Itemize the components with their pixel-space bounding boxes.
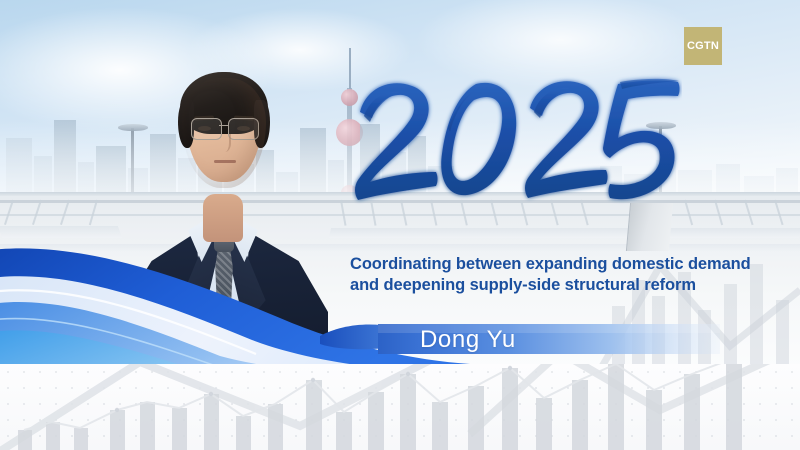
guest-name-label: Dong Yu xyxy=(420,326,516,354)
broadcast-graphic-canvas: Coordinating between expanding domestic … xyxy=(0,0,800,450)
year-title-2025 xyxy=(352,68,682,218)
cgtn-logo[interactable]: CGTN xyxy=(684,27,722,65)
tower-spire xyxy=(349,48,351,90)
cgtn-logo-text: CGTN xyxy=(687,40,719,52)
chart-watermark-band xyxy=(0,364,800,450)
guest-name-banner: Dong Yu xyxy=(320,314,720,366)
